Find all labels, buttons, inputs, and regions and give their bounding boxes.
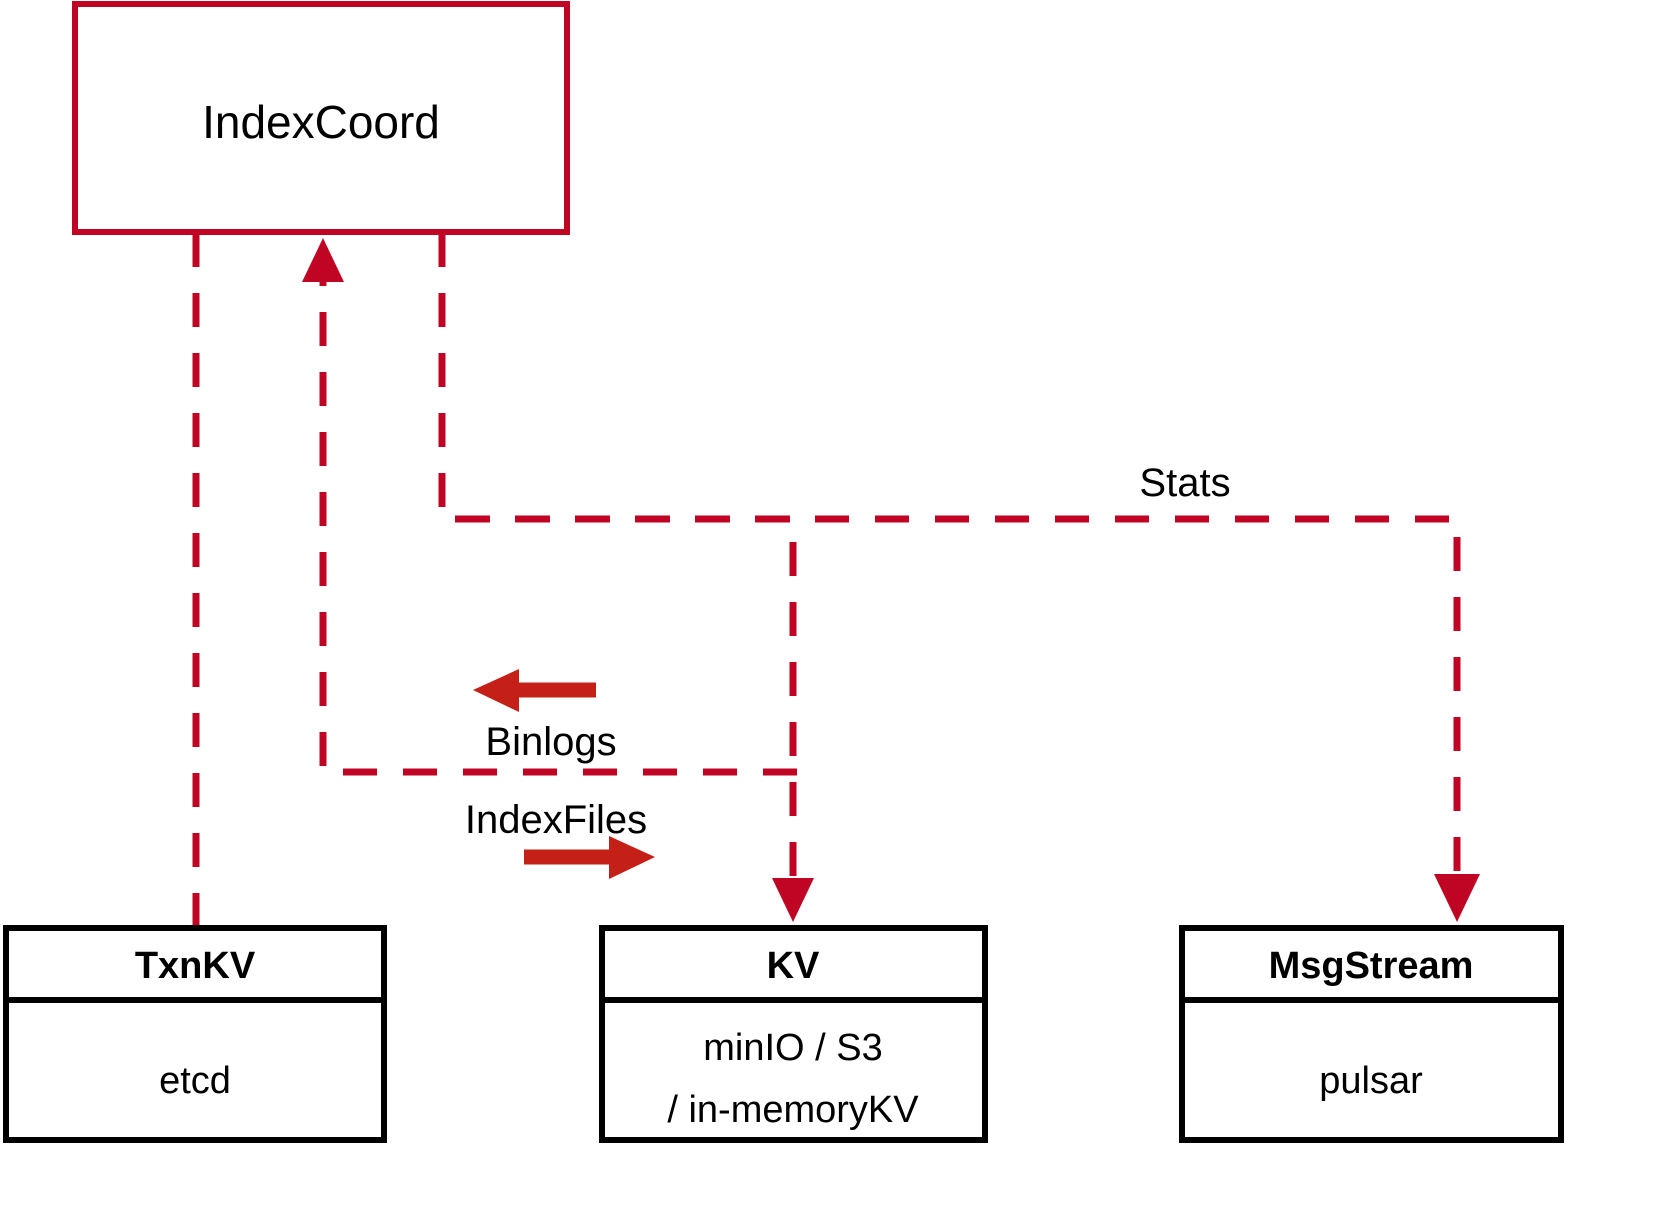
binlogs-arrow-head — [473, 669, 519, 712]
indexfiles-arrow-head — [609, 836, 655, 879]
node-txnkv-body-line-1: etcd — [159, 1060, 231, 1102]
node-txnkv[interactable]: TxnKV etcd — [6, 928, 384, 1140]
node-kv-body-line-2: / in-memoryKV — [667, 1089, 919, 1131]
node-msgstream-header: MsgStream — [1269, 945, 1474, 987]
node-indexcoord-label: IndexCoord — [202, 96, 440, 148]
node-kv-body-line-1: minIO / S3 — [703, 1027, 883, 1069]
node-indexcoord[interactable]: IndexCoord — [75, 4, 567, 232]
indexfiles-arrow-icon — [524, 836, 655, 879]
node-msgstream[interactable]: MsgStream pulsar — [1182, 928, 1561, 1140]
edge-indexcoord-kv-path — [442, 233, 793, 890]
node-kv[interactable]: KV minIO / S3 / in-memoryKV — [602, 928, 985, 1140]
binlogs-arrow-icon — [473, 669, 596, 712]
edge-label-stats: Stats — [1139, 461, 1230, 505]
architecture-diagram-canvas: IndexCoord TxnKV etcd KV minIO / S3 / in… — [0, 0, 1667, 1223]
edge-label-indexfiles: IndexFiles — [465, 798, 647, 842]
edge-indexcoord-kv-arrowhead — [772, 878, 814, 922]
edge-label-binlogs: Binlogs — [485, 720, 616, 764]
node-kv-header: KV — [767, 945, 820, 987]
diagram-root: IndexCoord TxnKV etcd KV minIO / S3 / in… — [0, 0, 1667, 1223]
edge-kv-indexcoord-arrowhead — [302, 238, 344, 282]
edge-stats-arrowhead — [1434, 874, 1480, 922]
node-msgstream-body-line-1: pulsar — [1319, 1060, 1423, 1102]
node-txnkv-header: TxnKV — [135, 945, 256, 987]
